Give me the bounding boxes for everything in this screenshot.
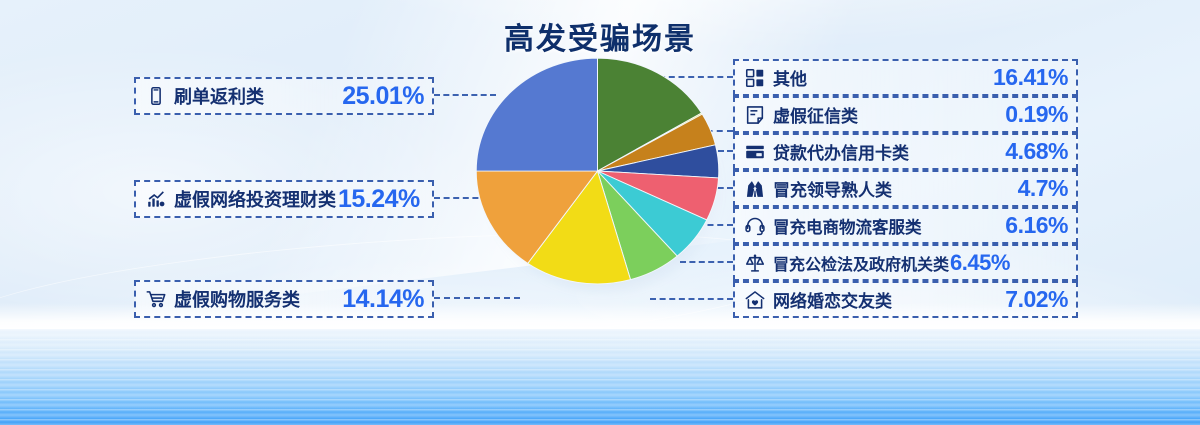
- label-percent: 25.01%: [342, 82, 424, 111]
- document-note-icon: [744, 104, 766, 126]
- label-daikuan-xinyongka[interactable]: 贷款代办信用卡类 4.68%: [733, 133, 1078, 170]
- label-shuadan-fanli[interactable]: 刷单返利类 25.01%: [134, 77, 434, 115]
- bar-chart-growth-icon: [145, 188, 167, 210]
- label-percent: 6.45%: [950, 250, 1010, 276]
- label-name: 贷款代办信用卡类: [773, 139, 909, 164]
- label-maochong-dianshang-kefu[interactable]: 冒充电商物流客服类 6.16%: [733, 207, 1078, 244]
- label-percent: 0.19%: [1005, 101, 1068, 128]
- infographic-canvas: 高发受骗场景 刷单返利类 25.01% 虚假网络投资理财类 15.24% 虚: [0, 0, 1200, 425]
- label-name: 冒充电商物流客服类: [773, 214, 922, 238]
- pie-chart-slices: [475, 57, 720, 285]
- page-title: 高发受骗场景: [0, 14, 1200, 58]
- water-band: [0, 329, 1200, 425]
- label-percent: 4.68%: [1005, 138, 1068, 165]
- shopping-cart-icon: [145, 288, 167, 310]
- pie-slice: [476, 58, 597, 171]
- label-name: 虚假购物服务类: [174, 286, 300, 312]
- label-name: 网络婚恋交友类: [773, 287, 892, 312]
- label-xujia-gouwu[interactable]: 虚假购物服务类 14.14%: [134, 280, 434, 318]
- label-name: 刷单返利类: [174, 83, 264, 109]
- label-name: 其他: [773, 65, 807, 90]
- mobile-phone-icon: [145, 85, 167, 107]
- label-percent: 16.41%: [993, 64, 1068, 91]
- label-xujia-zhengxin[interactable]: 虚假征信类 0.19%: [733, 96, 1078, 133]
- label-percent: 14.14%: [342, 285, 424, 314]
- label-percent: 15.24%: [338, 185, 420, 214]
- balance-scales-icon: [744, 252, 766, 274]
- label-percent: 4.7%: [1018, 175, 1068, 202]
- label-xujia-wangluo-touzi[interactable]: 虚假网络投资理财类 15.24%: [134, 180, 434, 218]
- label-wangluo-hunlian[interactable]: 网络婚恋交友类 7.02%: [733, 281, 1078, 318]
- business-suit-icon: [744, 178, 766, 200]
- credit-card-icon: [744, 141, 766, 163]
- leader-line-hunlian: [650, 298, 733, 300]
- pie-chart: [475, 57, 720, 285]
- label-name: 虚假征信类: [773, 102, 858, 127]
- label-name: 冒充领导熟人类: [773, 176, 892, 201]
- label-maochong-lingdao[interactable]: 冒充领导熟人类 4.7%: [733, 170, 1078, 207]
- label-percent: 6.16%: [1005, 212, 1068, 239]
- label-name: 虚假网络投资理财类: [174, 186, 336, 212]
- label-name: 冒充公检法及政府机关类: [773, 251, 949, 275]
- label-percent: 7.02%: [1005, 286, 1068, 313]
- label-maochong-gongjianfa[interactable]: 冒充公检法及政府机关类 6.45%: [733, 244, 1078, 281]
- house-heart-icon: [744, 289, 766, 311]
- label-qita[interactable]: 其他 16.41%: [733, 59, 1078, 96]
- leader-line-gouwu: [434, 297, 520, 299]
- headset-icon: [744, 215, 766, 237]
- grid-squares-icon: [744, 67, 766, 89]
